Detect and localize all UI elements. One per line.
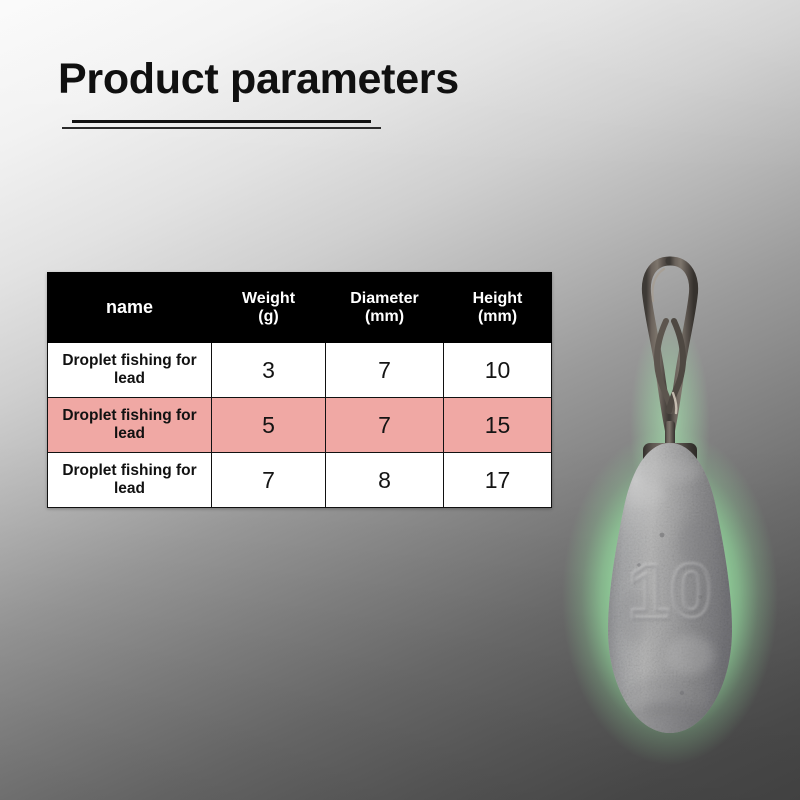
cell-weight: 3 [212, 343, 326, 398]
product-parameters-table: name Weight (g) Diameter (mm) Height (mm… [47, 272, 552, 508]
cell-weight: 5 [212, 398, 326, 453]
column-header-weight-unit: (g) [212, 308, 325, 325]
cell-name: Droplet fishing for lead [48, 453, 212, 508]
table-header: name Weight (g) Diameter (mm) Height (mm… [48, 273, 552, 343]
cell-name: Droplet fishing for lead [48, 398, 212, 453]
column-header-diameter: Diameter (mm) [326, 273, 444, 343]
column-header-diameter-unit: (mm) [326, 308, 443, 325]
column-header-weight-label: Weight [242, 290, 295, 307]
table-row-highlighted: Droplet fishing for lead 5 7 15 [48, 398, 552, 453]
svg-text:10: 10 [629, 551, 714, 636]
title-underline-primary [72, 120, 371, 123]
page-title: Product parameters [58, 58, 459, 101]
title-block: Product parameters [58, 58, 459, 101]
column-header-weight: Weight (g) [212, 273, 326, 343]
column-header-diameter-label: Diameter [350, 290, 418, 307]
cell-height: 15 [444, 398, 552, 453]
cell-diameter: 7 [326, 343, 444, 398]
cell-diameter: 8 [326, 453, 444, 508]
table-row: Droplet fishing for lead 7 8 17 [48, 453, 552, 508]
product-photo-sinker: 10 10 [540, 225, 800, 765]
table-header-row: name Weight (g) Diameter (mm) Height (mm… [48, 273, 552, 343]
table-row: Droplet fishing for lead 3 7 10 [48, 343, 552, 398]
column-header-name: name [48, 273, 212, 343]
cell-height: 10 [444, 343, 552, 398]
table-body: Droplet fishing for lead 3 7 10 Droplet … [48, 343, 552, 508]
column-header-name-label: name [106, 297, 153, 317]
cell-name: Droplet fishing for lead [48, 343, 212, 398]
cell-diameter: 7 [326, 398, 444, 453]
column-header-height-label: Height [473, 290, 523, 307]
embossed-weight-mark: 10 10 [628, 549, 714, 636]
product-parameters-slide: Product parameters name Weight (g) Diame… [0, 0, 800, 800]
cell-weight: 7 [212, 453, 326, 508]
column-header-height-unit: (mm) [444, 308, 551, 325]
column-header-height: Height (mm) [444, 273, 552, 343]
title-underline-secondary [62, 127, 381, 129]
cell-height: 17 [444, 453, 552, 508]
